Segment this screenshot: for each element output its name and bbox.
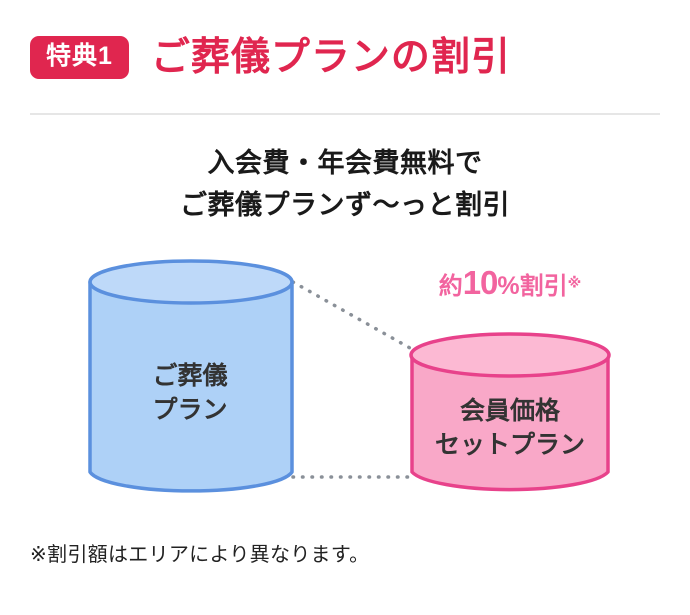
discount-number: 10 xyxy=(463,264,498,301)
left-cylinder-label-line-1: ご葬儀 xyxy=(88,360,292,394)
benefit-number-badge: 特典1 xyxy=(30,36,129,79)
subtitle-block: 入会費・年会費無料で ご葬儀プランず〜っと割引 xyxy=(0,143,690,227)
right-cylinder-label-line-2: セットプラン xyxy=(410,429,610,463)
left-cylinder-label: ご葬儀 プラン xyxy=(88,360,292,428)
card-header: 特典1 ご葬儀プランの割引 xyxy=(0,0,690,114)
discount-prefix: 約 xyxy=(439,273,463,300)
connector-line-top xyxy=(293,282,410,348)
right-cylinder-label-line-1: 会員価格 xyxy=(410,395,610,429)
discount-asterisk-icon: ※ xyxy=(568,275,582,291)
subtitle-line-2: ご葬儀プランず〜っと割引 xyxy=(0,185,690,227)
benefit-card: 特典1 ご葬儀プランの割引 入会費・年会費無料で ご葬儀プランず〜っと割引 ご葬 xyxy=(0,0,690,615)
discount-suffix: 割引 xyxy=(520,273,568,300)
right-cylinder-label: 会員価格 セットプラン xyxy=(410,395,610,463)
discount-percent: % xyxy=(497,272,519,300)
page-title: ご葬儀プランの割引 xyxy=(151,38,511,77)
header-divider xyxy=(30,113,660,115)
left-cylinder-label-line-2: プラン xyxy=(88,394,292,428)
subtitle-line-1: 入会費・年会費無料で xyxy=(0,143,690,185)
discount-callout: 約10%割引※ xyxy=(410,266,610,299)
footnote-text: ※割引額はエリアにより異なります。 xyxy=(30,538,369,567)
